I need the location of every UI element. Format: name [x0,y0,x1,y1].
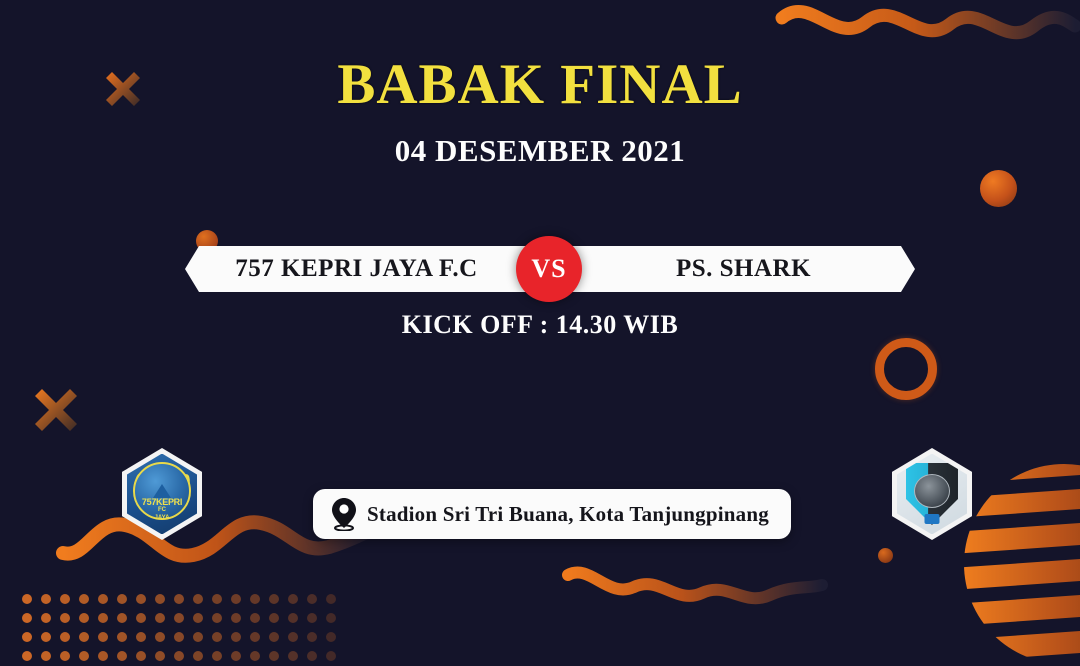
wave-bottom-center-icon [560,555,860,615]
grid-dot [98,613,108,623]
grid-dot [250,651,260,661]
grid-dot [326,613,336,623]
grid-dot [136,594,146,604]
match-poster: BABAK FINAL 04 DESEMBER 2021 757KEPRI FC… [0,0,1080,666]
home-team-badge: 757KEPRI FC JAYA [122,448,202,540]
grid-dot [117,613,127,623]
grid-dot [231,651,241,661]
grid-dot [307,632,317,642]
grid-dot [79,651,89,661]
grid-dot [326,651,336,661]
home-team-name: 757 KEPRI JAYA F.C [185,255,570,283]
grid-dot [41,594,51,604]
grid-dot [231,632,241,642]
cross-mid-left-icon [33,387,79,433]
versus-badge: VS [516,236,582,302]
grid-dot [307,651,317,661]
grid-dot [288,613,298,623]
grid-dot [174,594,184,604]
grid-dot [193,632,203,642]
grid-dot [212,594,222,604]
grid-dot [250,613,260,623]
grid-dot [307,594,317,604]
grid-dot [98,651,108,661]
grid-dot [98,594,108,604]
grid-dot [60,651,70,661]
page-title: BABAK FINAL [0,52,1080,117]
grid-dot [326,594,336,604]
grid-dot [41,632,51,642]
grid-dot [22,651,32,661]
grid-dot [231,594,241,604]
grid-dot [117,651,127,661]
grid-dot [288,632,298,642]
ring-right-icon [875,338,937,400]
grid-dot [155,651,165,661]
grid-dot [288,594,298,604]
grid-dot [307,613,317,623]
home-team-bar: 757 KEPRI JAYA F.C [185,246,570,292]
grid-dot [174,613,184,623]
grid-dot [269,613,279,623]
grid-dot [22,613,32,623]
grid-dot [250,594,260,604]
home-badge-secondary-text: FC [127,506,197,514]
grid-dot [288,651,298,661]
venue-pill: Stadion Sri Tri Buana, Kota Tanjungpinan… [313,489,791,539]
grid-dot [79,632,89,642]
grid-dot [136,613,146,623]
kickoff-time: KICK OFF : 14.30 WIB [0,310,1080,340]
home-badge-tertiary-text: JAYA [127,514,197,522]
venue-name: Stadion Sri Tri Buana, Kota Tanjungpinan… [367,502,769,527]
grid-dot [155,594,165,604]
versus-label: VS [531,254,566,284]
grid-dot [193,594,203,604]
grid-dot [193,651,203,661]
grid-dot [231,613,241,623]
grid-dot [136,632,146,642]
grid-dot [212,613,222,623]
grid-dot [269,594,279,604]
grid-dot [326,632,336,642]
away-team-bar: PS. SHARK [530,246,915,292]
circle-top-right-icon [980,170,1017,207]
grid-dot [117,632,127,642]
ps-shark-crest-icon [897,454,967,535]
grid-dot [174,632,184,642]
grid-dot [41,613,51,623]
grid-dot [60,632,70,642]
grid-dot [174,651,184,661]
match-date: 04 DESEMBER 2021 [0,133,1080,169]
grid-dot [269,632,279,642]
grid-dot [79,613,89,623]
grid-dot [79,594,89,604]
away-team-name: PS. SHARK [530,255,915,283]
grid-dot [193,613,203,623]
grid-dot [250,632,260,642]
grid-dot [22,594,32,604]
grid-dot [136,651,146,661]
kepri-jaya-crest-icon: 757KEPRI FC JAYA [127,454,197,535]
grid-dot [98,632,108,642]
grid-dot [155,613,165,623]
grid-dot [60,613,70,623]
away-team-badge [892,448,972,540]
grid-dot [22,632,32,642]
grid-dot [41,651,51,661]
grid-dot [269,651,279,661]
grid-dot [212,632,222,642]
grid-dot [117,594,127,604]
map-pin-icon [331,497,357,531]
grid-dot [212,651,222,661]
circle-small-bottom-right-icon [878,548,893,563]
grid-dot [60,594,70,604]
grid-dot [155,632,165,642]
